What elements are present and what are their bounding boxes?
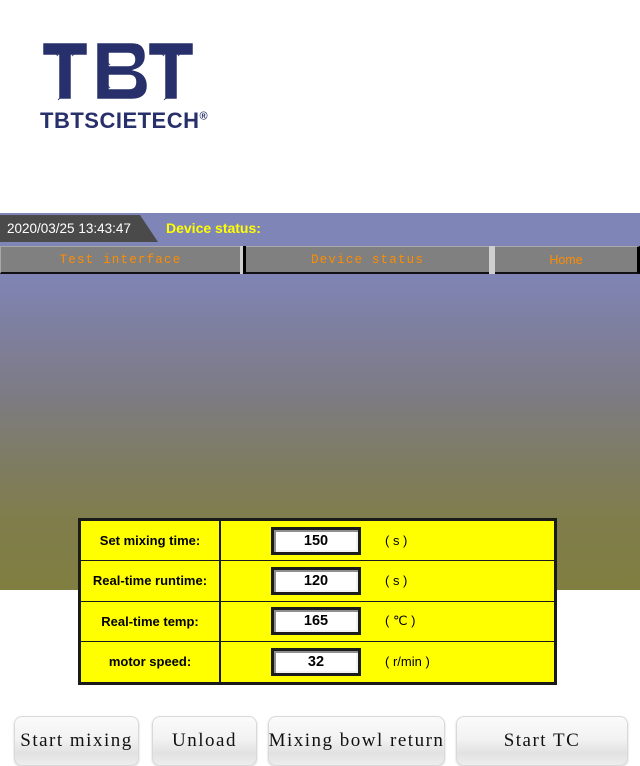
unload-button[interactable]: Unload [152, 716, 257, 766]
brand-header: TBTSCIETECH® [0, 0, 640, 213]
mixing-bowl-return-button-label: Mixing bowl return [269, 730, 445, 752]
param-label-real-time-runtime: Real-time runtime: [81, 561, 221, 600]
motor-speed-input[interactable]: 32 [271, 648, 361, 676]
param-label-set-mixing-time: Set mixing time: [81, 521, 221, 560]
device-status-label: Device status: [166, 215, 261, 242]
real-time-temp-unit: ( ℃ ) [385, 613, 415, 629]
param-value-cell: 32 ( r/min ) [221, 642, 554, 682]
param-value-cell: 120 ( s ) [221, 561, 554, 600]
brand-wordmark: TBTSCIETECH® [40, 108, 208, 134]
tab-test-interface[interactable]: Test interface [0, 246, 240, 274]
start-tc-button[interactable]: Start TC [456, 716, 628, 766]
status-strip: 2020/03/25 13:43:47 Device status: [0, 213, 640, 244]
mixing-bowl-return-button[interactable]: Mixing bowl return [268, 716, 445, 766]
tab-bar: Test interface Device status Home [0, 246, 640, 274]
param-label-real-time-temp: Real-time temp: [81, 602, 221, 641]
table-row: motor speed: 32 ( r/min ) [81, 642, 554, 682]
set-mixing-time-unit: ( s ) [385, 533, 407, 548]
registered-trademark-icon: ® [200, 111, 209, 123]
tab-home-label: Home [549, 253, 582, 267]
tab-test-interface-label: Test interface [60, 253, 182, 267]
table-row: Set mixing time: 150 ( s ) [81, 521, 554, 561]
motor-speed-unit: ( r/min ) [385, 654, 430, 669]
param-value-cell: 150 ( s ) [221, 521, 554, 560]
start-tc-button-label: Start TC [504, 730, 581, 752]
param-label-motor-speed: motor speed: [81, 642, 221, 682]
real-time-runtime-input[interactable]: 120 [271, 567, 361, 595]
tab-home[interactable]: Home [495, 246, 640, 274]
start-mixing-button[interactable]: Start mixing [14, 716, 139, 766]
tbt-logo-icon [36, 36, 196, 108]
unload-button-label: Unload [172, 730, 237, 752]
start-mixing-button-label: Start mixing [20, 730, 132, 752]
hmi-panel: 2020/03/25 13:43:47 Device status: Test … [0, 213, 640, 590]
timestamp-banner: 2020/03/25 13:43:47 [0, 215, 158, 242]
real-time-temp-input[interactable]: 165 [271, 607, 361, 635]
param-value-cell: 165 ( ℃ ) [221, 602, 554, 641]
parameter-table: Set mixing time: 150 ( s ) Real-time run… [78, 518, 557, 685]
table-row: Real-time runtime: 120 ( s ) [81, 561, 554, 601]
tab-device-status-label: Device status [311, 253, 424, 267]
table-row: Real-time temp: 165 ( ℃ ) [81, 602, 554, 642]
real-time-runtime-unit: ( s ) [385, 573, 407, 588]
set-mixing-time-input[interactable]: 150 [271, 527, 361, 555]
tab-device-status[interactable]: Device status [246, 246, 489, 274]
action-button-bar: Start mixing Unload Mixing bowl return S… [0, 716, 640, 766]
brand-wordmark-text: TBTSCIETECH [40, 108, 200, 133]
